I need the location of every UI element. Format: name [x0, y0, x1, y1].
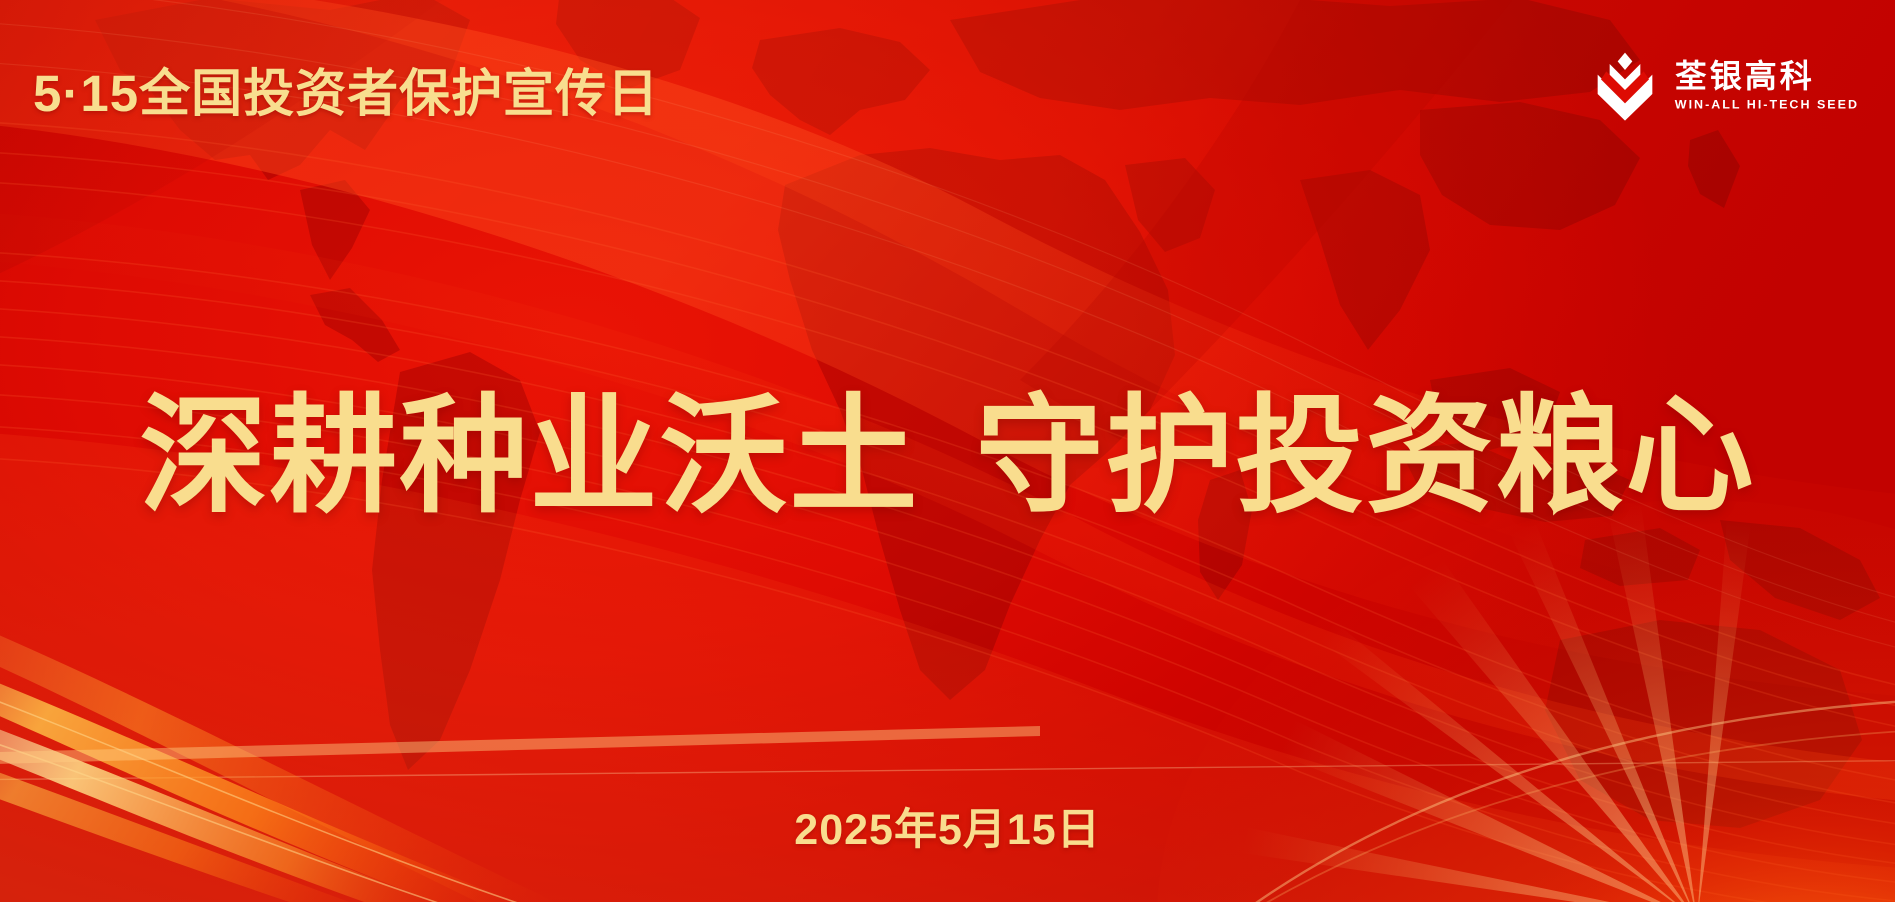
brand-logo: 荃银高科 WIN-ALL HI-TECH SEED [1591, 50, 1859, 122]
brand-text: 荃银高科 WIN-ALL HI-TECH SEED [1675, 60, 1859, 113]
chevron-diamond-logo-icon [1591, 50, 1659, 122]
main-slogan: 深耕种业沃土守护投资粮心 [0, 352, 1895, 537]
event-date: 2025年5月15日 [0, 795, 1895, 857]
investor-protection-banner: 5·15全国投资者保护宣传日 荃银高科 WIN-ALL HI-TECH SEED… [0, 0, 1895, 902]
slogan-part-left: 深耕种业沃土 [139, 385, 919, 528]
slogan-part-right: 守护投资粮心 [976, 385, 1756, 528]
brand-name-cn: 荃银高科 [1675, 60, 1859, 94]
campaign-headline: 5·15全国投资者保护宣传日 [33, 52, 659, 126]
brand-name-en: WIN-ALL HI-TECH SEED [1675, 99, 1859, 112]
